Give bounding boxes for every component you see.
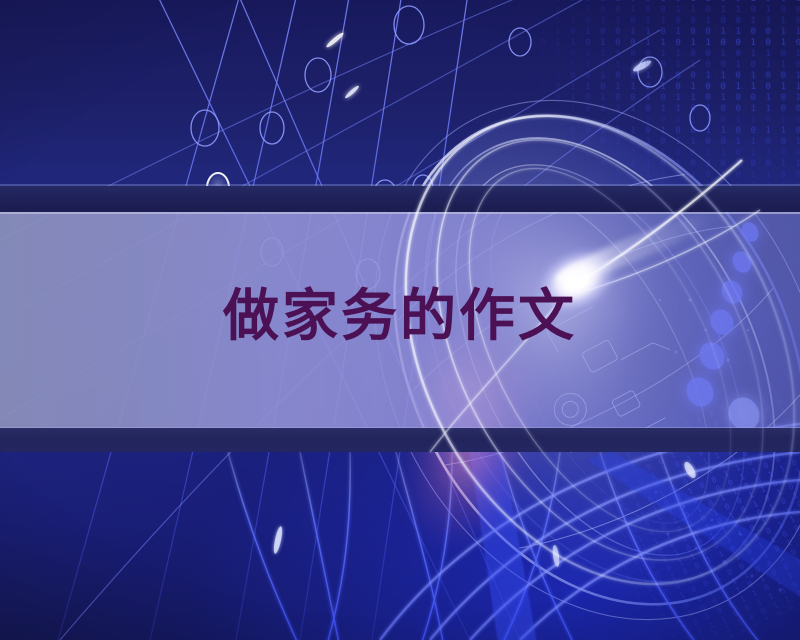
- slide-canvas: 0 1 0 0 1 1 0 0 1 0 1 1 0 0 1 0 0 1 1 0 …: [0, 0, 800, 640]
- vignette: [0, 0, 800, 640]
